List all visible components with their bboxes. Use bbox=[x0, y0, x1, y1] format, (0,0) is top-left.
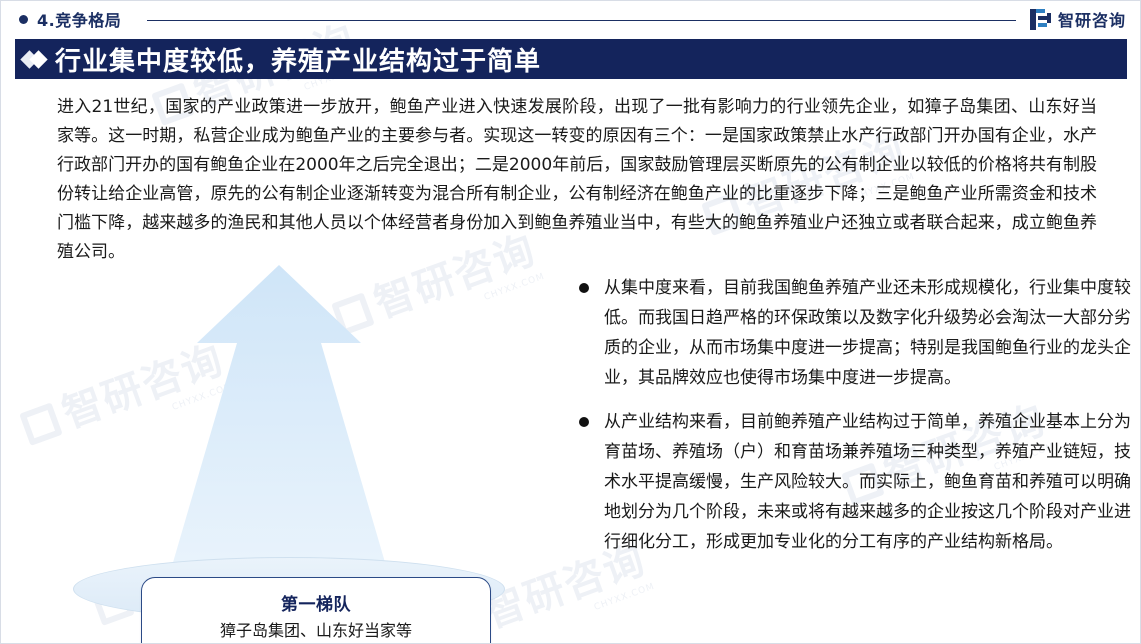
header-divider bbox=[147, 20, 1016, 21]
section-kicker: 4.竞争格局 bbox=[37, 7, 121, 31]
list-item: 从产业结构来看，目前鲍养殖产业结构过于简单，养殖企业基本上分为育苗场、养殖场（户… bbox=[579, 407, 1131, 557]
slide-title-bar: 行业集中度较低，养殖产业结构过于简单 bbox=[15, 39, 1127, 79]
diamond-icon bbox=[23, 53, 41, 66]
tier-card-1[interactable]: 第一梯队 獐子岛集团、山东好当家等 ZONECO 獐子岛 好当家 bbox=[141, 577, 491, 644]
bullet-text-2: 从产业结构来看，目前鲍养殖产业结构过于简单，养殖企业基本上分为育苗场、养殖场（户… bbox=[604, 407, 1131, 557]
lower-content: 第一梯队 獐子岛集团、山东好当家等 ZONECO 獐子岛 好当家 bbox=[1, 263, 1141, 644]
bullet-list: 从集中度来看，目前我国鲍鱼养殖产业还未形成规模化，行业集中度较低。而我国日趋严格… bbox=[579, 273, 1131, 571]
top-header-row: 4.竞争格局 智研咨询 bbox=[1, 1, 1141, 37]
page-title: 行业集中度较低，养殖产业结构过于简单 bbox=[55, 41, 541, 78]
brand-name: 智研咨询 bbox=[1058, 7, 1126, 31]
slide-page: 智研咨询 CHYXX.COM 智研咨询 CHYXX.COM 智研咨询 CHYXX… bbox=[0, 0, 1141, 644]
tier-card-1-title: 第一梯队 bbox=[142, 590, 490, 615]
zhiyan-logo-icon bbox=[1030, 9, 1051, 30]
tier-diagram: 第一梯队 獐子岛集团、山东好当家等 ZONECO 獐子岛 好当家 bbox=[11, 263, 571, 644]
bullet-dot-icon bbox=[579, 417, 589, 427]
list-item: 从集中度来看，目前我国鲍鱼养殖产业还未形成规模化，行业集中度较低。而我国日趋严格… bbox=[579, 273, 1131, 393]
brand-logo: 智研咨询 bbox=[1030, 7, 1126, 31]
section-bullet-icon bbox=[19, 15, 28, 24]
intro-paragraph: 进入21世纪，国家的产业政策进一步放开，鲍鱼产业进入快速发展阶段，出现了一批有影… bbox=[57, 93, 1097, 267]
upward-arrow-icon bbox=[129, 265, 429, 595]
bullet-text-1: 从集中度来看，目前我国鲍鱼养殖产业还未形成规模化，行业集中度较低。而我国日趋严格… bbox=[604, 273, 1131, 393]
bullet-dot-icon bbox=[579, 283, 589, 293]
tier-card-1-subtitle: 獐子岛集团、山东好当家等 bbox=[142, 617, 490, 641]
